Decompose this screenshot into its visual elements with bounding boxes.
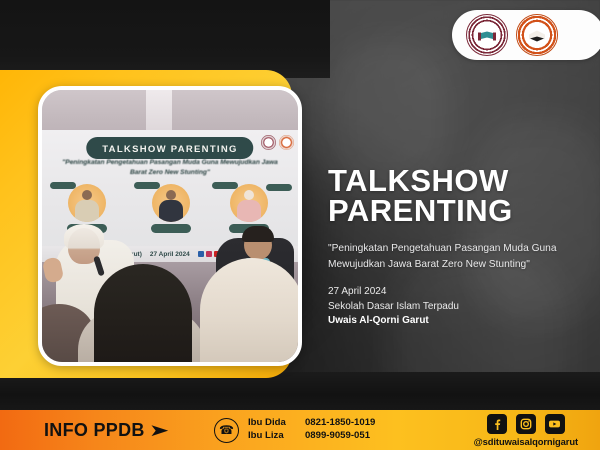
venue-line-1: Sekolah Dasar Islam Terpadu — [328, 300, 578, 315]
contact-group: ☎ Ibu Dida 0821-1850-1019 Ibu Liza 0899-… — [214, 417, 375, 442]
photo-window — [146, 90, 172, 134]
backdrop-logos — [261, 135, 294, 150]
contact-row[interactable]: Ibu Dida 0821-1850-1019 — [248, 417, 375, 430]
facebook-icon[interactable] — [487, 414, 507, 434]
contact-row[interactable]: Ibu Liza 0899-9059-051 — [248, 430, 375, 443]
speaker-chip — [212, 182, 238, 189]
backdrop-seal-icon — [261, 135, 276, 150]
school-seal-icon — [466, 14, 508, 56]
social-group: @sdituwaisalqornigarut — [474, 414, 578, 447]
arrow-right-icon: ➤ — [149, 422, 170, 439]
photo-audience-member — [94, 264, 192, 362]
backdrop-title-pill: TALKSHOW PARENTING — [86, 137, 253, 159]
book-emblem-icon — [527, 29, 547, 42]
event-subtitle: "Peningkatan Pengetahuan Pasangan Muda G… — [328, 241, 560, 273]
headline-block: TALKSHOW PARENTING "Peningkatan Pengetah… — [328, 166, 578, 329]
info-ppdb-label: INFO PPDB — [44, 420, 145, 441]
poster-canvas: TALKSHOW PARENTING "Peningkatan Pengetah… — [0, 0, 600, 450]
backdrop-title: TALKSHOW PARENTING — [102, 144, 237, 155]
event-photo: TALKSHOW PARENTING "Peningkatan Pengetah… — [38, 86, 302, 366]
backdrop-subtitle: "Peningkatan Pengetahuan Pasangan Muda G… — [55, 158, 285, 177]
logo-badge — [452, 10, 600, 60]
event-meta: 27 April 2024 Sekolah Dasar Islam Terpad… — [328, 285, 578, 329]
backdrop-seal-icon — [279, 135, 294, 150]
social-handle: @sdituwaisalqornigarut — [474, 436, 578, 447]
foundation-seal-icon — [516, 14, 558, 56]
contact-number: 0899-9059-051 — [305, 430, 370, 443]
youtube-icon[interactable] — [545, 414, 565, 434]
speaker-chip — [266, 184, 292, 191]
phone-icon: ☎ — [214, 418, 239, 443]
top-left-dark-band — [0, 0, 330, 78]
page-title: TALKSHOW PARENTING — [328, 166, 578, 227]
backdrop-strip-date: 27 April 2024 — [150, 251, 190, 258]
venue-line-2: Uwais Al-Qorni Garut — [328, 314, 578, 329]
speaker-chip — [134, 182, 160, 189]
photo-man-hair — [242, 226, 274, 242]
speaker-chip — [50, 182, 76, 189]
social-icon-row — [474, 414, 578, 434]
event-date: 27 April 2024 — [328, 285, 578, 300]
contact-name: Ibu Dida — [248, 417, 296, 430]
contact-name: Ibu Liza — [248, 430, 296, 443]
instagram-icon[interactable] — [516, 414, 536, 434]
footer-bar: INFO PPDB ➤ ☎ Ibu Dida 0821-1850-1019 Ib… — [0, 410, 600, 450]
book-emblem-icon — [477, 29, 497, 42]
contact-number: 0821-1850-1019 — [305, 417, 375, 430]
info-ppdb-group[interactable]: INFO PPDB ➤ — [44, 420, 166, 441]
speaker-portrait — [150, 184, 192, 233]
photo-audience-member — [200, 258, 302, 362]
title-line-2: PARENTING — [328, 196, 578, 226]
contact-list: Ibu Dida 0821-1850-1019 Ibu Liza 0899-90… — [248, 417, 375, 442]
